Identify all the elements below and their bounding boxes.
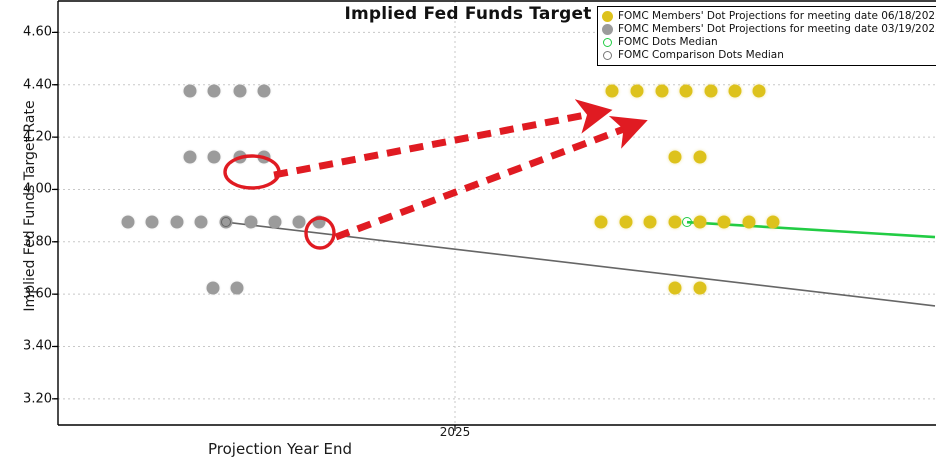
legend-label: FOMC Members' Dot Projections for meetin… (618, 23, 936, 36)
y-axis-tick-label: 3.20 (23, 391, 52, 406)
x-axis-tick-label: 2025 (440, 425, 471, 439)
chart-legend[interactable]: FOMC Members' Dot Projections for meetin… (597, 6, 936, 66)
axis-labels-layer: 3.203.403.603.804.004.204.404.60 Implied… (0, 0, 936, 459)
legend-item[interactable]: FOMC Dots Median (602, 36, 936, 49)
y-axis-tick-label: 3.40 (23, 339, 52, 354)
legend-item[interactable]: FOMC Members' Dot Projections for meetin… (602, 10, 936, 23)
legend-label: FOMC Members' Dot Projections for meetin… (618, 10, 936, 23)
legend-label: FOMC Dots Median (618, 36, 718, 49)
legend-item[interactable]: FOMC Comparison Dots Median (602, 49, 936, 62)
y-axis-tick-label: 4.60 (23, 25, 52, 40)
legend-swatch-icon (602, 24, 613, 35)
y-axis-title: Implied Fed Funds Target Rate (22, 81, 38, 331)
x-axis-title: Projection Year End (0, 440, 560, 458)
legend-label: FOMC Comparison Dots Median (618, 49, 784, 62)
fed-dot-plot-chart: 3.203.403.603.804.004.204.404.60 Implied… (0, 0, 936, 459)
legend-swatch-icon (602, 11, 613, 22)
legend-item[interactable]: FOMC Members' Dot Projections for meetin… (602, 23, 936, 36)
legend-swatch-icon (603, 38, 612, 47)
legend-swatch-icon (603, 51, 612, 60)
